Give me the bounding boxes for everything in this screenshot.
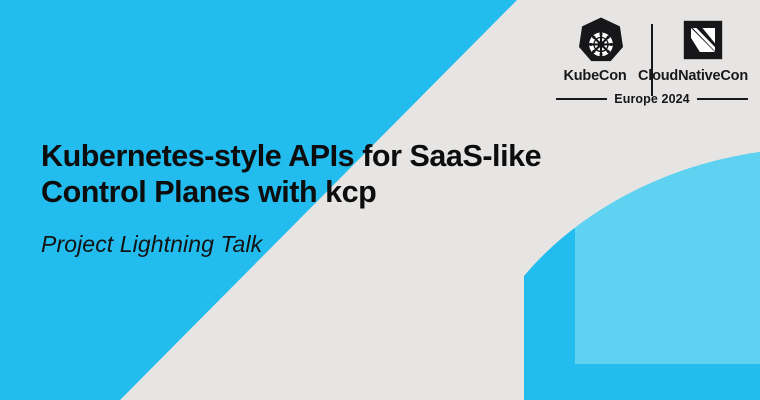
- page-title: Kubernetes-style APIs for SaaS-like Cont…: [41, 138, 571, 210]
- cloudnativecon-wordmark: CloudNativeCon: [636, 67, 748, 85]
- cncf-icon-cell: [659, 14, 748, 66]
- logo-vertical-divider: [651, 24, 653, 96]
- kubernetes-helm-wheel-icon: [579, 17, 623, 63]
- edition-rule-left: [556, 98, 607, 100]
- kubecon-cloudnativecon-logo: KubeCon CloudNativeCon Europe 2024: [556, 14, 748, 106]
- cncf-square-icon: [683, 20, 723, 60]
- logo-icon-row: [556, 14, 748, 66]
- kubecon-wordmark: KubeCon: [556, 67, 636, 85]
- page-subtitle: Project Lightning Talk: [41, 231, 571, 258]
- slide-canvas: KubeCon CloudNativeCon Europe 2024 Kuber…: [0, 0, 760, 400]
- title-block: Kubernetes-style APIs for SaaS-like Cont…: [41, 138, 571, 258]
- kubernetes-icon-cell: [556, 14, 645, 66]
- edition-rule-right: [697, 98, 748, 100]
